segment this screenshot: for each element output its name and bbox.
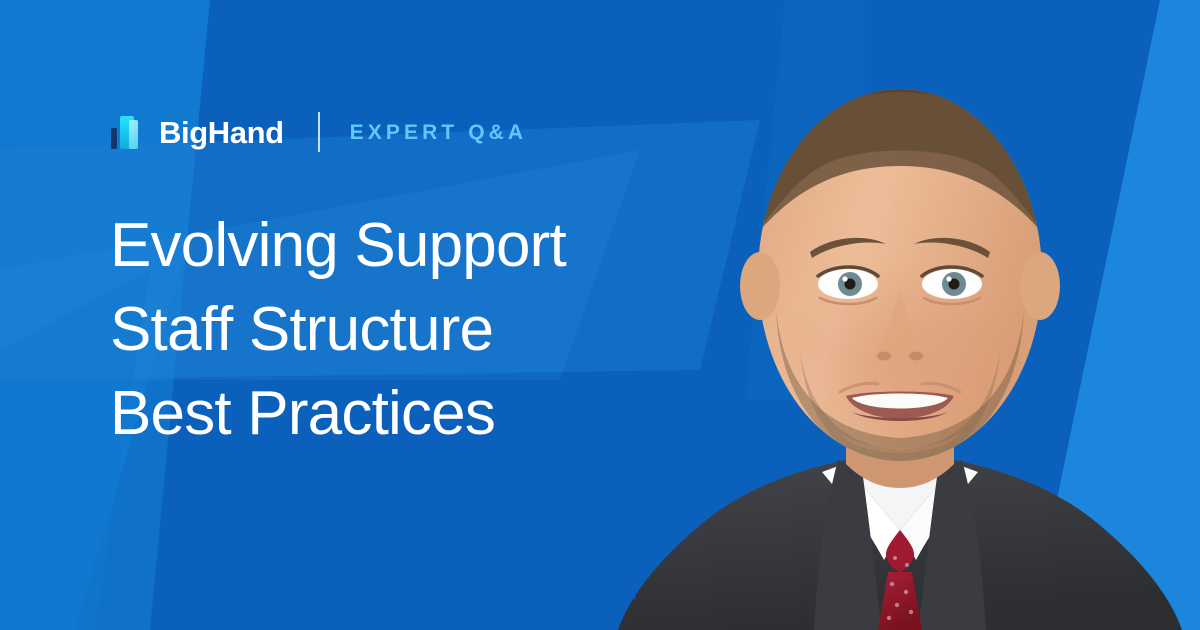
headline-line-3: Best Practices — [110, 372, 700, 456]
headline-line-1: Evolving Support — [110, 204, 700, 288]
bighand-wordmark: BigHand — [159, 117, 284, 148]
headline-line-2: Staff Structure — [110, 288, 700, 372]
social-share-card: BigHand EXPERT Q&A Evolving Support Staf… — [0, 0, 1200, 630]
series-eyebrow-label: EXPERT Q&A — [350, 122, 528, 143]
portrait-head — [740, 84, 1060, 468]
brand-row: BigHand EXPERT Q&A — [110, 108, 700, 156]
page-title: Evolving Support Staff Structure Best Pr… — [110, 204, 700, 456]
vertical-divider — [318, 112, 320, 152]
card-content: BigHand EXPERT Q&A Evolving Support Staf… — [0, 0, 700, 630]
bighand-bar-logo-icon — [110, 112, 150, 152]
